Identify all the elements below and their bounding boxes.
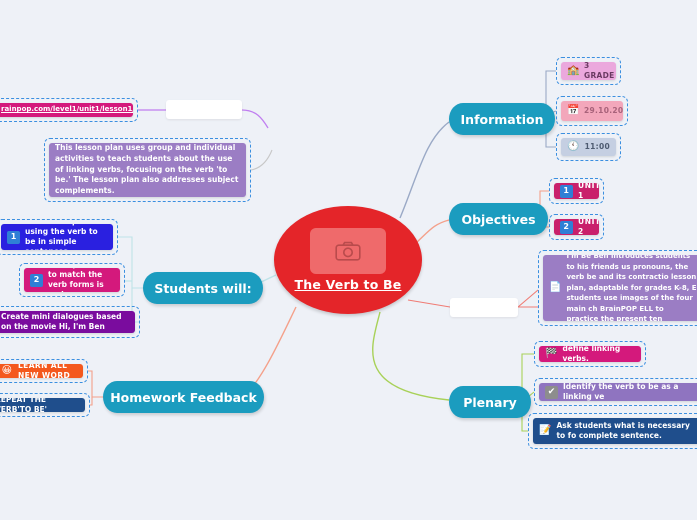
branch-students-will[interactable]: Students will: (143, 272, 263, 304)
calendar-icon: 📅 (567, 106, 579, 116)
document-icon: 📄 (549, 283, 561, 293)
leaf-date-label: 29.10.2019 (584, 106, 623, 116)
leaf-description[interactable]: 📄 In BrainPOP ELL's first movie, Hi, I'm… (543, 255, 697, 321)
leaf-repeat-label: REPEAT THE VERB'TO BE' (0, 398, 79, 412)
leaf-date[interactable]: 📅 29.10.2019 (561, 101, 623, 121)
branch-students-label: Students will: (154, 281, 251, 296)
leaf-dialogues-label: Create mini dialogues based on the movie… (1, 312, 129, 332)
leaf-describe-pictures[interactable]: 1 MDescribe pictures using the verb to b… (1, 224, 113, 250)
leaf-unit2[interactable]: 2 UNIT 2 (554, 219, 599, 235)
leaf-wrapper-unit2: 2 UNIT 2 (549, 214, 604, 240)
leaf-wrapper-identify: ✔ Identify the verb to be as a linking v… (534, 378, 697, 406)
leaf-description-text: In BrainPOP ELL's first movie, Hi, I'm B… (566, 255, 697, 321)
leaf-grade-label: 3 GRADE (584, 62, 615, 80)
number-badge-1: 1 (560, 185, 573, 198)
leaf-wrapper-define: 🏁 define linking verbs. (534, 341, 646, 367)
leaf-wrapper-repeat-verb: REPEAT THE VERB'TO BE' (0, 393, 90, 417)
leaf-learn-label: LEARN ALL NEW WORD (18, 364, 77, 378)
leaf-time-label: 11:00 (585, 142, 610, 152)
number-badge-1: 1 (7, 231, 20, 244)
leaf-define-label: define linking verbs. (562, 346, 635, 362)
leaf-mini-dialogues[interactable]: Create mini dialogues based on the movie… (0, 311, 135, 333)
leaf-draw-label: Draw pictures to match the verb forms is… (48, 268, 114, 292)
leaf-wrapper-description: 📄 In BrainPOP ELL's first movie, Hi, I'm… (538, 250, 697, 326)
branch-information-label: Information (461, 112, 544, 127)
leaf-define-linking-verbs[interactable]: 🏁 define linking verbs. (539, 346, 641, 362)
leaf-wrapper-url: rainpop.com/level1/unit1/lesson1/zoom. (0, 98, 138, 122)
leaf-lesson-summary-text: This lesson plan uses group and individu… (55, 143, 240, 197)
leaf-identify-linking-verb[interactable]: ✔ Identify the verb to be as a linking v… (539, 383, 697, 401)
branch-homework-label: Homework Feedback (110, 390, 257, 405)
checkered-flag-icon: 🏁 (545, 349, 557, 359)
leaf-url-label: rainpop.com/level1/unit1/lesson1/zoom. (1, 105, 133, 114)
leaf-ask-label: Ask students what is necessary to fo com… (556, 421, 697, 441)
leaf-lesson-url[interactable]: rainpop.com/level1/unit1/lesson1/zoom. (0, 103, 133, 117)
branch-plenary[interactable]: Plenary (449, 386, 531, 418)
camera-icon (310, 228, 386, 274)
school-building-icon: 🏫 (567, 66, 579, 76)
leaf-draw-pictures[interactable]: 2 Draw pictures to match the verb forms … (24, 268, 120, 292)
mindmap-canvas: The Verb to Be Information Objectives Pl… (0, 0, 697, 520)
leaf-wrapper-describe-pictures: 1 MDescribe pictures using the verb to b… (0, 219, 118, 255)
leaf-wrapper-draw-pictures: 2 Draw pictures to match the verb forms … (19, 263, 125, 297)
number-badge-2: 2 (30, 274, 43, 287)
leaf-learn-all-new-word[interactable]: 😀 LEARN ALL NEW WORD (0, 364, 83, 378)
leaf-wrapper-date: 📅 29.10.2019 (556, 96, 628, 126)
leaf-wrapper-learn-words: 😀 LEARN ALL NEW WORD (0, 359, 88, 383)
leaf-time[interactable]: 🕚 11:00 (561, 138, 616, 156)
leaf-wrapper-mini-dialogues: Create mini dialogues based on the movie… (0, 306, 140, 338)
leaf-wrapper-lesson-summary: This lesson plan uses group and individu… (44, 138, 251, 202)
leaf-wrapper-grade: 🏫 3 GRADE (556, 57, 621, 85)
branch-objectives-label: Objectives (461, 212, 535, 227)
blank-note-middle[interactable] (450, 298, 518, 317)
leaf-repeat-verb-to-be[interactable]: REPEAT THE VERB'TO BE' (0, 398, 85, 412)
leaf-lesson-summary[interactable]: This lesson plan uses group and individu… (49, 143, 246, 197)
leaf-grade[interactable]: 🏫 3 GRADE (561, 62, 616, 80)
leaf-unit2-label: UNIT 2 (578, 219, 599, 235)
branch-objectives[interactable]: Objectives (449, 203, 548, 235)
leaf-wrapper-ask: 📝 Ask students what is necessary to fo c… (528, 413, 697, 449)
number-badge-2: 2 (560, 221, 573, 234)
branch-information[interactable]: Information (449, 103, 555, 135)
checkbox-checked-icon: ✔ (545, 386, 558, 399)
leaf-ask-students[interactable]: 📝 Ask students what is necessary to fo c… (533, 418, 697, 444)
central-node-title: The Verb to Be (295, 277, 402, 292)
branch-plenary-label: Plenary (463, 395, 517, 410)
smiley-icon: 😀 (1, 366, 13, 376)
memo-icon: 📝 (539, 426, 551, 436)
branch-homework-feedback[interactable]: Homework Feedback (103, 381, 264, 413)
clock-icon: 🕚 (567, 142, 580, 152)
leaf-describe-label: MDescribe pictures using the verb to be … (25, 224, 107, 250)
leaf-unit1-label: UNIT 1 (578, 183, 599, 199)
leaf-wrapper-unit1: 1 UNIT 1 (549, 178, 604, 204)
blank-note-top[interactable] (166, 100, 242, 119)
leaf-wrapper-time: 🕚 11:00 (556, 133, 621, 161)
central-node[interactable]: The Verb to Be (274, 206, 422, 314)
leaf-unit1[interactable]: 1 UNIT 1 (554, 183, 599, 199)
leaf-identify-label: Identify the verb to be as a linking ve (563, 383, 697, 401)
